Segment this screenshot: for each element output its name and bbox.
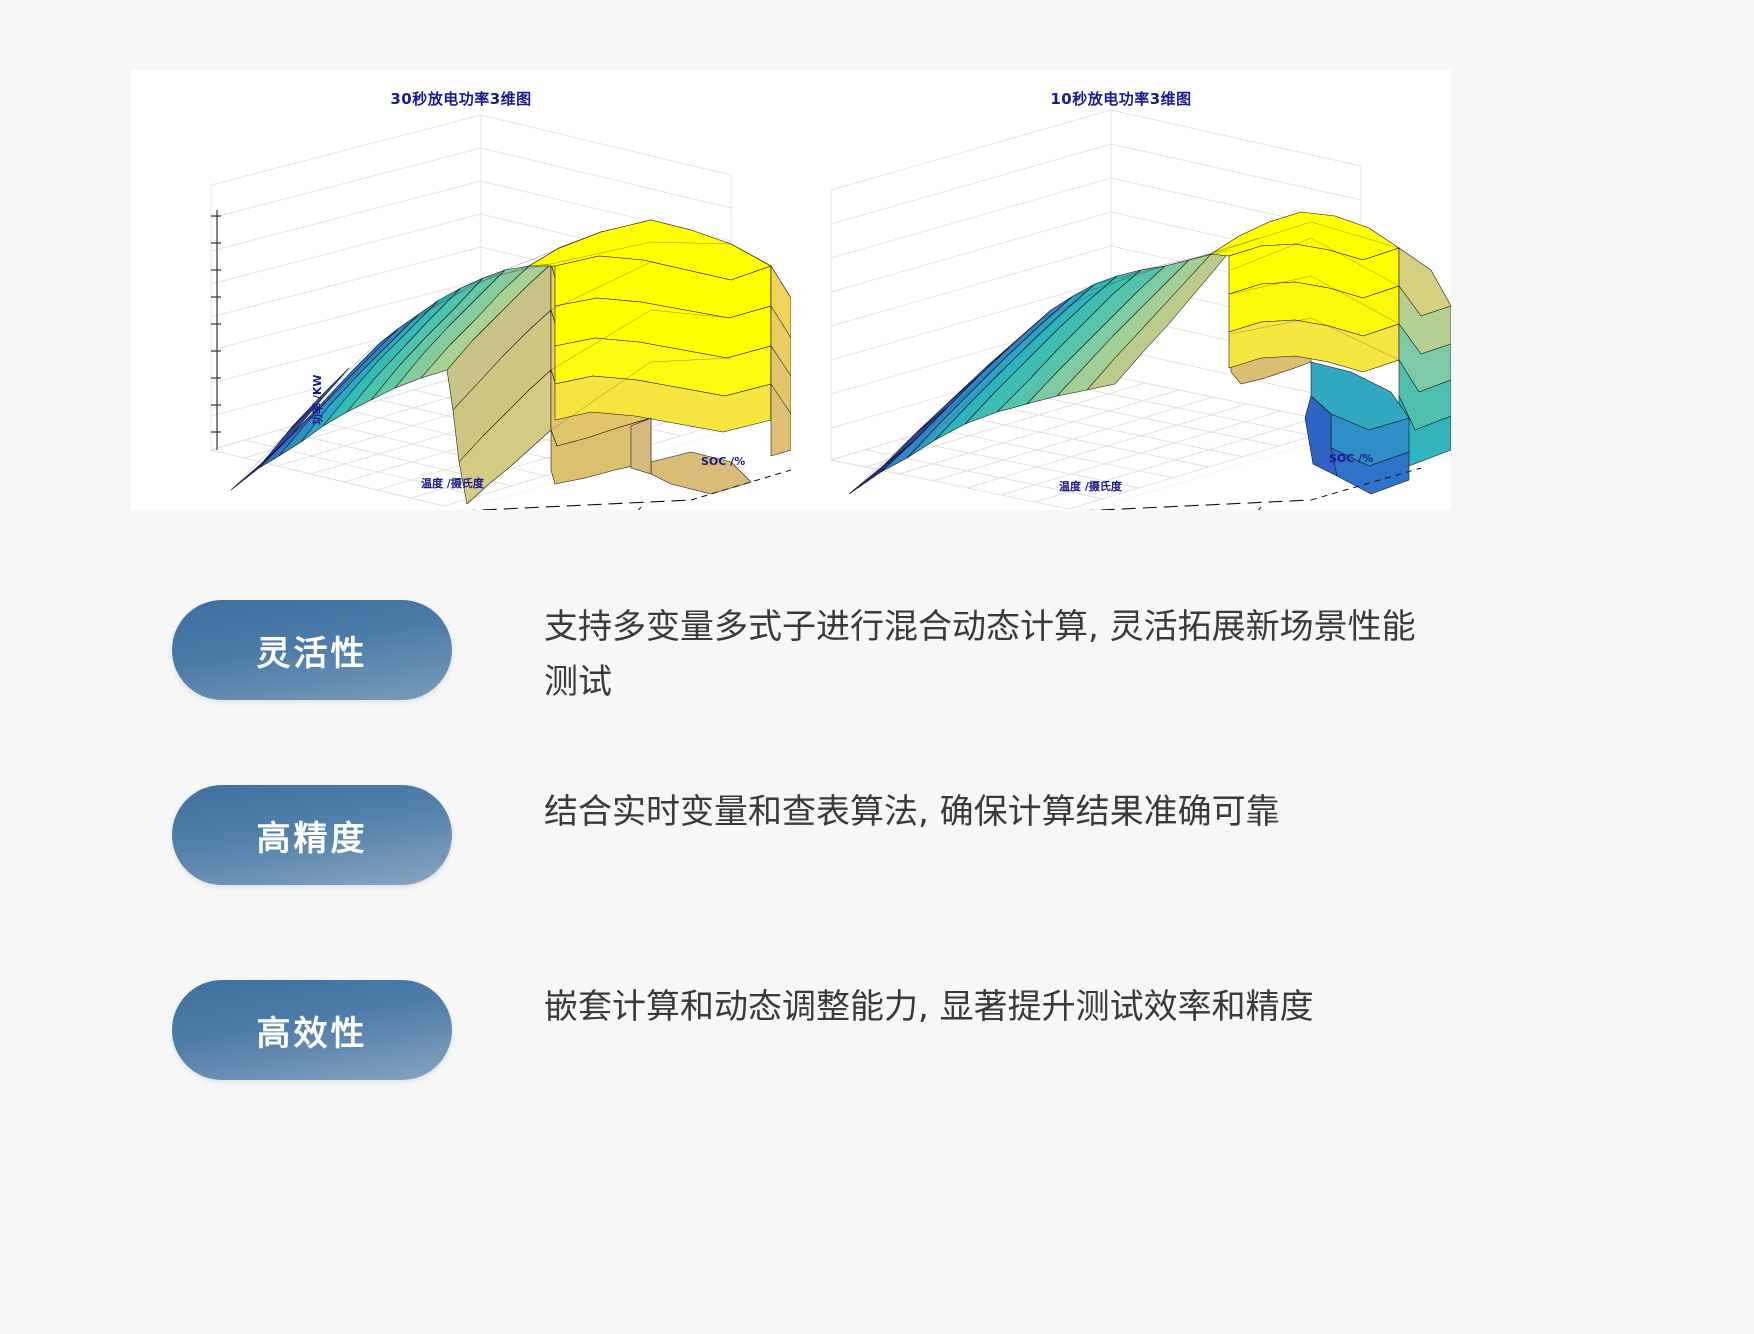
feature-text-accuracy: 结合实时变量和查表算法, 确保计算结果准确可靠 — [544, 785, 1434, 840]
feature-tag-accuracy[interactable]: 高精度 — [172, 785, 452, 885]
feature-text-flexibility: 支持多变量多式子进行混合动态计算, 灵活拓展新场景性能测试 — [544, 600, 1434, 710]
chart-30s-z-axis-label: 功率 /KW — [309, 374, 325, 425]
feature-row-efficiency: 高效性 嵌套计算和动态调整能力, 显著提升测试效率和精度 — [0, 980, 1754, 1080]
chart-30s-y-axis-label: SOC /% — [701, 455, 745, 468]
feature-row-flexibility: 灵活性 支持多变量多式子进行混合动态计算, 灵活拓展新场景性能测试 — [0, 600, 1754, 710]
chart-10s-surface — [791, 70, 1451, 510]
chart-30s-x-axis-label: 温度 /摄氏度 — [421, 475, 484, 491]
chart-10s-discharge-power: 10秒放电功率3维图 — [791, 70, 1451, 510]
charts-panel: 30秒放电功率3维图 — [131, 70, 1451, 510]
feature-tag-efficiency[interactable]: 高效性 — [172, 980, 452, 1080]
chart-30s-discharge-power: 30秒放电功率3维图 — [131, 70, 791, 510]
feature-row-accuracy: 高精度 结合实时变量和查表算法, 确保计算结果准确可靠 — [0, 785, 1754, 885]
feature-tag-flexibility[interactable]: 灵活性 — [172, 600, 452, 700]
chart-10s-x-axis-label: 温度 /摄氏度 — [1059, 478, 1122, 494]
feature-text-efficiency: 嵌套计算和动态调整能力, 显著提升测试效率和精度 — [544, 980, 1434, 1035]
chart-30s-surface — [131, 70, 791, 510]
chart-10s-y-axis-label: SOC /% — [1329, 452, 1373, 465]
